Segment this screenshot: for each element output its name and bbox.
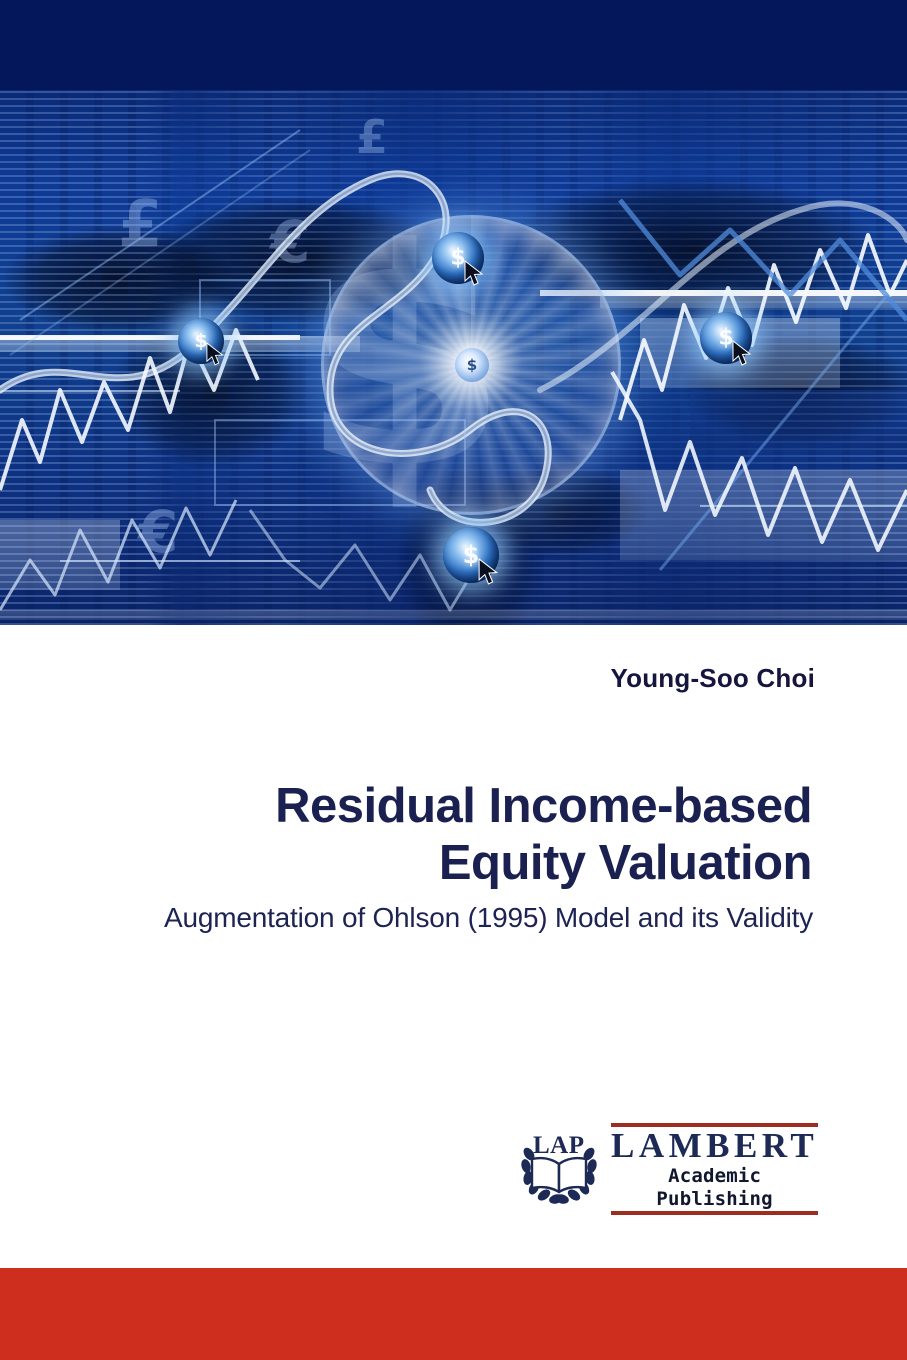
lap-emblem-icon: LAP (517, 1130, 601, 1206)
network-node-sphere: $ (700, 312, 752, 364)
top-color-band (0, 0, 907, 90)
dollar-glyph: $ (432, 246, 484, 271)
network-node-sphere: $ (432, 232, 484, 284)
book-title-line-2: Equity Valuation (72, 835, 812, 892)
book-title-line-1: Residual Income-based (72, 778, 812, 835)
book-title: Residual Income-based Equity Valuation (72, 778, 812, 892)
book-subtitle: Augmentation of Ohlson (1995) Model and … (53, 902, 813, 934)
publisher-tagline: Academic Publishing (611, 1165, 818, 1211)
lap-acronym: LAP (533, 1132, 585, 1160)
network-node-sphere: $ (178, 318, 224, 364)
dollar-glyph: $ (178, 330, 224, 352)
cover-artwork: $ £ € € £ $ (0, 90, 907, 625)
dollar-glyph: $ (443, 541, 499, 569)
author-name: Young-Soo Choi (611, 663, 816, 694)
bottom-color-band (0, 1268, 907, 1360)
network-node-sphere: $ (443, 527, 499, 583)
logo-rule-bottom (611, 1211, 818, 1215)
dollar-glyph: $ (700, 326, 752, 351)
publisher-logo: LAP LAMBERT Academic Publishing (517, 1128, 817, 1208)
publisher-wordmark: LAMBERT Academic Publishing (611, 1119, 818, 1218)
publisher-name: LAMBERT (611, 1127, 818, 1165)
book-cover: $ £ € € £ $ (0, 0, 907, 1360)
